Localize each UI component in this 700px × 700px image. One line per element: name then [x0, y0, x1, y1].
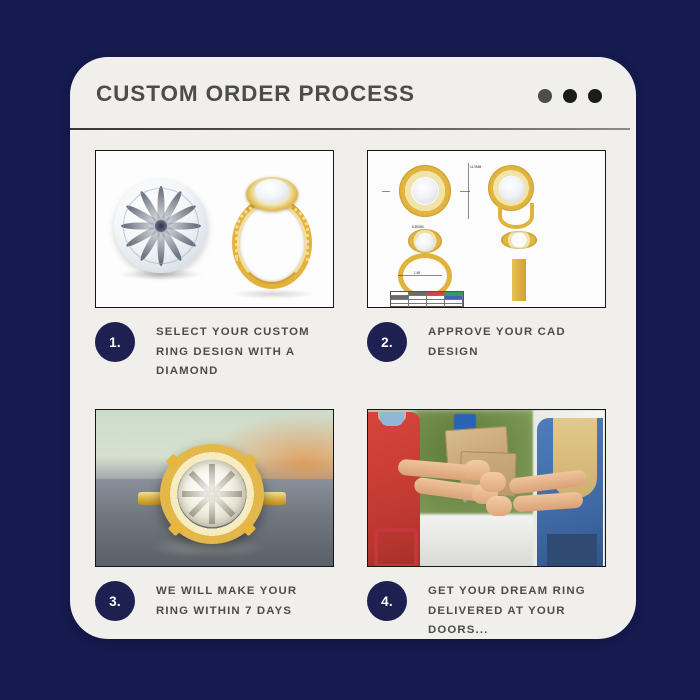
step-2-caption: 2. APPROVE YOUR CAD DESIGN — [367, 320, 606, 398]
cad-angled-view — [480, 161, 550, 223]
step-4-image[interactable] — [367, 409, 606, 567]
step-3-badge: 3. — [95, 581, 135, 621]
step-1-badge: 1. — [95, 322, 135, 362]
card-header: CUSTOM ORDER PROCESS — [70, 57, 636, 129]
cad-side-view — [488, 229, 550, 301]
cad-top-view — [390, 161, 460, 223]
step-card-3: 3. WE WILL MAKE YOUR RING WITHIN 7 DAYS — [95, 409, 334, 639]
step-2-image[interactable]: 11.0MM 8.50MM 1.65 — [367, 150, 606, 308]
header-divider — [70, 128, 630, 130]
step-3-label: WE WILL MAKE YOUR RING WITHIN 7 DAYS — [156, 579, 334, 621]
cad-spec-table — [390, 291, 464, 307]
finished-gold-ring-icon — [154, 440, 270, 548]
hand-truck-icon — [374, 528, 418, 566]
step-1-label: SELECT YOUR CUSTOM RING DESIGN WITH A DI… — [156, 320, 334, 382]
step-2-label: APPROVE YOUR CAD DESIGN — [428, 320, 606, 362]
step-3-image[interactable] — [95, 409, 334, 567]
step-card-4: 4. GET YOUR DREAM RING DELIVERED AT YOUR… — [367, 409, 606, 639]
page-title: CUSTOM ORDER PROCESS — [96, 81, 415, 107]
step-3-caption: 3. WE WILL MAKE YOUR RING WITHIN 7 DAYS — [95, 579, 334, 639]
step-2-badge: 2. — [367, 322, 407, 362]
dot-one-icon[interactable] — [538, 89, 552, 103]
diamond-and-ring-illustration — [96, 151, 333, 307]
dot-three-icon[interactable] — [588, 89, 602, 103]
step-4-caption: 4. GET YOUR DREAM RING DELIVERED AT YOUR… — [367, 579, 606, 639]
steps-grid: 1. SELECT YOUR CUSTOM RING DESIGN WITH A… — [95, 150, 628, 639]
window-dots — [538, 89, 602, 103]
cad-design-sheet-illustration: 11.0MM 8.50MM 1.65 — [368, 151, 605, 307]
process-card: CUSTOM ORDER PROCESS — [70, 57, 636, 639]
finished-ring-photo-illustration — [96, 410, 333, 566]
step-1-caption: 1. SELECT YOUR CUSTOM RING DESIGN WITH A… — [95, 320, 334, 398]
parcel-delivery-illustration — [368, 410, 605, 566]
step-4-badge: 4. — [367, 581, 407, 621]
gold-halo-ring-icon — [224, 171, 320, 291]
step-card-2: 11.0MM 8.50MM 1.65 2. APPR — [367, 150, 606, 398]
step-card-1: 1. SELECT YOUR CUSTOM RING DESIGN WITH A… — [95, 150, 334, 398]
loose-diamond-icon — [114, 179, 208, 273]
poster-canvas: CUSTOM ORDER PROCESS — [0, 0, 700, 700]
dot-two-icon[interactable] — [563, 89, 577, 103]
step-4-label: GET YOUR DREAM RING DELIVERED AT YOUR DO… — [428, 579, 606, 639]
step-1-image[interactable] — [95, 150, 334, 308]
